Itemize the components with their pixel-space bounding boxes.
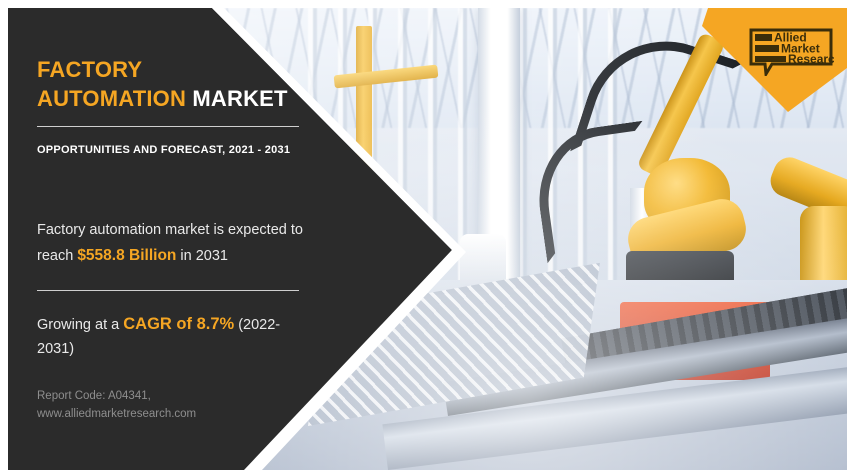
title-line-two-plain: MARKET <box>192 86 287 111</box>
cagr-figure: CAGR of 8.7% <box>123 315 234 333</box>
logo-bar-three <box>755 56 786 62</box>
logo-svg: Allied Market Research <box>748 28 834 76</box>
website-link[interactable]: www.alliedmarketresearch.com <box>37 408 196 420</box>
logo-bar-one <box>755 34 772 41</box>
page-title: FACTORY AUTOMATION MARKET <box>37 56 305 113</box>
cagr-prefix: Growing at a <box>37 317 123 333</box>
report-footnote: Report Code: A04341, www.alliedmarketres… <box>37 388 305 424</box>
title-line-two-highlight: AUTOMATION <box>37 86 186 111</box>
market-value-statement: Factory automation market is expected to… <box>37 219 305 268</box>
allied-market-research-logo[interactable]: Allied Market Research <box>748 28 834 76</box>
title-divider <box>37 126 299 127</box>
banner-subtitle: OPPORTUNITIES AND FORECAST, 2021 - 2031 <box>37 142 305 159</box>
cagr-statement: Growing at a CAGR of 8.7% (2022-2031) <box>37 311 305 362</box>
report-code: Report Code: A04341, <box>37 390 151 402</box>
logo-text-research: Research <box>788 52 834 66</box>
market-report-banner: FACTORY AUTOMATION MARKET OPPORTUNITIES … <box>0 0 847 470</box>
title-line-one: FACTORY <box>37 57 142 82</box>
market-value-figure: $558.8 Billion <box>77 247 176 264</box>
stats-divider <box>37 290 299 291</box>
market-value-suffix: in 2031 <box>176 248 228 264</box>
logo-bar-two <box>755 45 779 52</box>
banner-text-block: FACTORY AUTOMATION MARKET OPPORTUNITIES … <box>37 56 305 424</box>
